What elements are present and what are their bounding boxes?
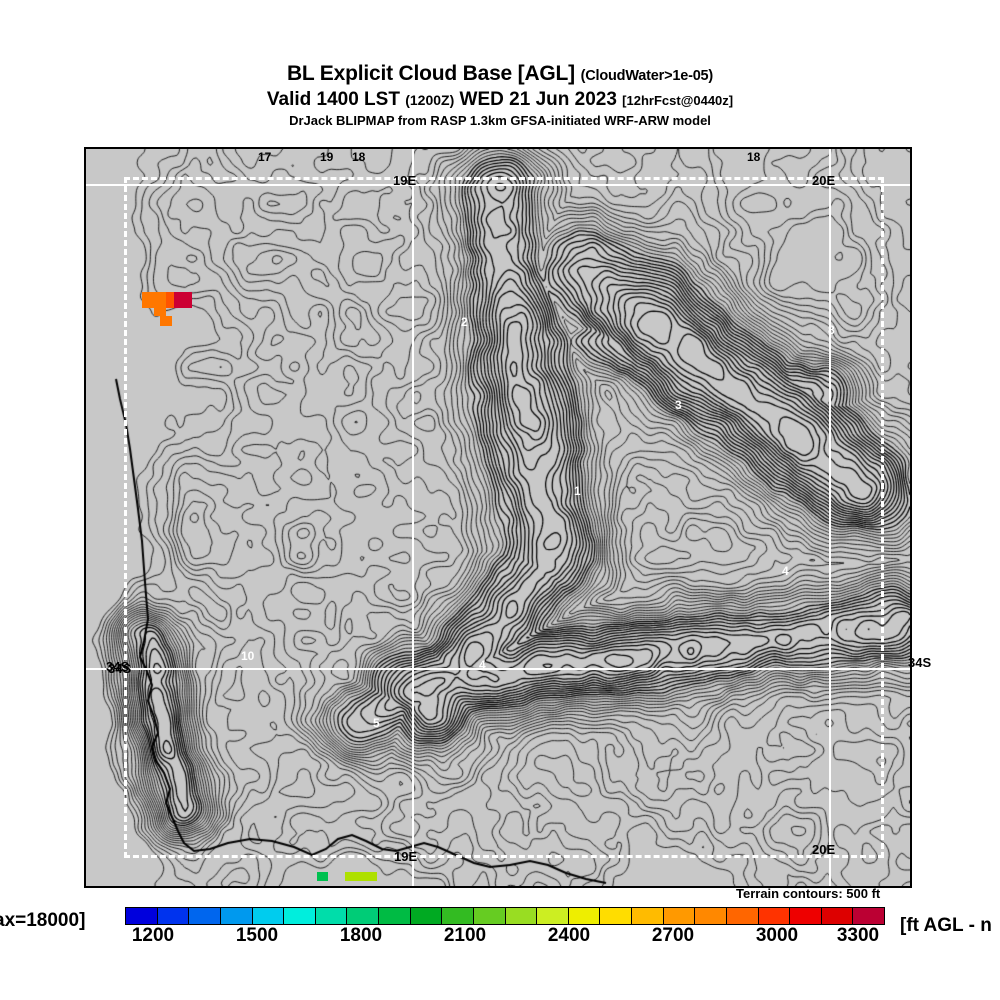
terrain-contour-note: Terrain contours: 500 ft: [736, 886, 880, 901]
cloud-base-patch: [166, 292, 174, 308]
clipped-number-label: 18: [747, 150, 760, 164]
map-number-label: 2: [461, 315, 468, 329]
clipped-number-label: 19: [320, 150, 333, 164]
forecast-stamp: [12hrFcst@0440z]: [622, 93, 733, 108]
colorbar-gradient[interactable]: [125, 907, 885, 925]
model-domain-box: [124, 177, 884, 858]
colorbar-tick: 2700: [652, 925, 694, 947]
chart-source: DrJack BLIPMAP from RASP 1.3km GFSA-init…: [0, 112, 1000, 129]
cloud-base-patch: [154, 308, 166, 316]
colorbar-tick: 3000: [756, 925, 798, 947]
valid-date: WED 21 Jun 2023: [460, 89, 617, 110]
colorbar-segment: [411, 908, 443, 924]
colorbar-tick: 3300: [837, 925, 879, 947]
map-number-label: 8: [828, 323, 835, 337]
colorbar-segment: [600, 908, 632, 924]
colorbar-legend: ax=18000] 120015001800210024002700300033…: [0, 905, 1000, 955]
colorbar-segment: [221, 908, 253, 924]
colorbar-segment: [126, 908, 158, 924]
colorbar-segment: [189, 908, 221, 924]
colorbar-segment: [632, 908, 664, 924]
valid-time: Valid 1400 LST: [267, 89, 400, 110]
colorbar-segment: [569, 908, 601, 924]
colorbar-segment: [506, 908, 538, 924]
latitude-label-left: 34S: [106, 659, 129, 674]
colorbar-segment: [284, 908, 316, 924]
cloud-base-patch: [174, 292, 192, 308]
map-number-label: 4: [782, 564, 789, 578]
colorbar-segment: [664, 908, 696, 924]
cloud-base-patch: [142, 292, 166, 308]
colorbar-tick: 2400: [548, 925, 590, 947]
colorbar-tick: 1200: [132, 925, 174, 947]
cloud-base-patch: [317, 872, 328, 881]
colorbar-segment: [822, 908, 854, 924]
map-number-label: 3: [675, 398, 682, 412]
clipped-number-label: 17: [258, 150, 271, 164]
map-number-label: 1: [574, 484, 581, 498]
longitude-label: 20E: [812, 842, 835, 857]
colorbar-segment: [727, 908, 759, 924]
clipped-number-label: 18: [352, 150, 365, 164]
colorbar-segment: [474, 908, 506, 924]
colorbar-unit-label: [ft AGL - n: [900, 915, 992, 937]
chart-title-suffix: (CloudWater>1e-05): [581, 68, 713, 84]
colorbar-tick: 1500: [236, 925, 278, 947]
colorbar-segment: [695, 908, 727, 924]
colorbar-tick-labels: 12001500180021002400270030003300: [0, 925, 1000, 953]
title-block: BL Explicit Cloud Base [AGL] (CloudWater…: [0, 62, 1000, 129]
longitude-label: 20E: [812, 173, 835, 188]
colorbar-segment: [442, 908, 474, 924]
map-number-label: 5: [373, 716, 380, 730]
cloud-base-patch: [160, 316, 172, 326]
colorbar-segment: [316, 908, 348, 924]
longitude-label: 19E: [393, 173, 416, 188]
colorbar-segment: [158, 908, 190, 924]
colorbar-segment: [379, 908, 411, 924]
colorbar-segment: [790, 908, 822, 924]
colorbar-segment: [253, 908, 285, 924]
chart-title: BL Explicit Cloud Base [AGL] (CloudWater…: [0, 62, 1000, 88]
colorbar-segment: [759, 908, 791, 924]
colorbar-segment: [853, 908, 884, 924]
map-number-label: 10: [241, 649, 254, 663]
colorbar-segment: [347, 908, 379, 924]
weather-map[interactable]: 19E20E19E20E34S34S 2831410415 17191818: [84, 147, 912, 888]
colorbar-tick: 2100: [444, 925, 486, 947]
latitude-label-right: 34S: [908, 655, 931, 670]
valid-zulu: (1200Z): [405, 92, 454, 108]
colorbar-tick: 1800: [340, 925, 382, 947]
map-number-label: 4: [479, 658, 486, 672]
chart-title-main: BL Explicit Cloud Base [AGL]: [287, 62, 575, 85]
colorbar-segment: [537, 908, 569, 924]
longitude-label: 19E: [394, 849, 417, 864]
cloud-base-patch: [345, 872, 377, 881]
chart-valid-line: Valid 1400 LST (1200Z) WED 21 Jun 2023 […: [0, 88, 1000, 112]
